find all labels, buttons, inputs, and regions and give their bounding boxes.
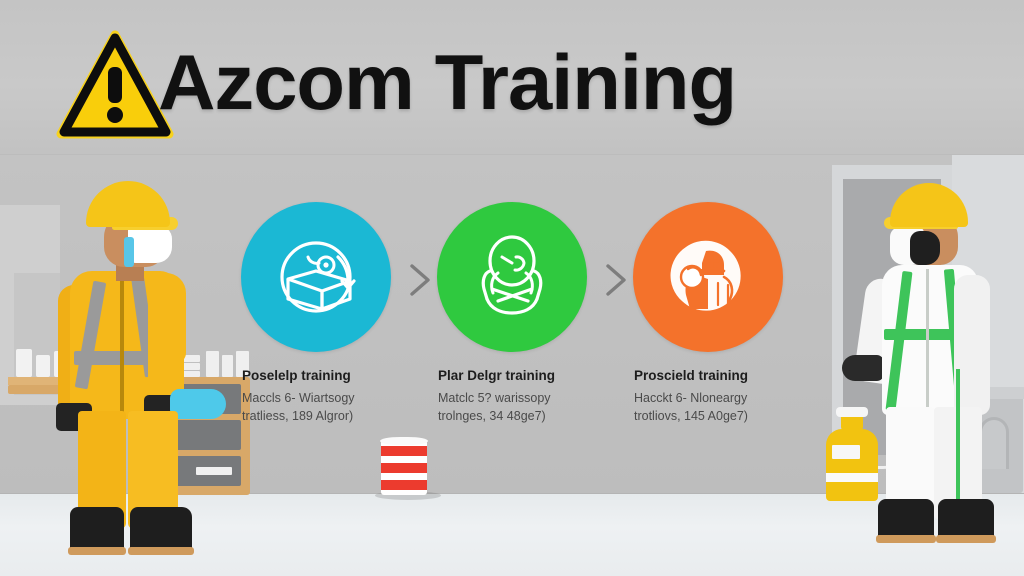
black-respirator xyxy=(910,231,940,265)
step-1-text: Poselelp training Maccls 6- Wiartsogy tr… xyxy=(236,368,396,425)
mask-band xyxy=(124,237,134,267)
left-black-glove xyxy=(842,355,884,381)
step-3-title: Proscield training xyxy=(634,368,788,383)
cyan-glove xyxy=(170,389,226,419)
worker-yellow-coverall xyxy=(52,173,242,533)
training-step-3[interactable]: Proscield training Hacckt 6- Nloneargy t… xyxy=(628,202,788,425)
right-boot-sole xyxy=(128,547,194,555)
leg-green-stripe xyxy=(956,369,960,519)
warning-triangle-icon xyxy=(56,30,174,142)
step-2-text: Plar Delgr training Matclc 5? warissopy … xyxy=(432,368,592,425)
left-boot-sole xyxy=(876,535,936,543)
step-1-title: Poselelp training xyxy=(242,368,396,383)
page-title: Azcom Training xyxy=(158,26,736,138)
header-band: Azcom Training xyxy=(0,0,1024,155)
gloved-hands-icon xyxy=(466,231,558,323)
scene-illustration: Poselelp training Maccls 6- Wiartsogy tr… xyxy=(0,155,1024,576)
step-1-badge[interactable] xyxy=(241,202,391,352)
step-2-badge[interactable] xyxy=(437,202,587,352)
chevron-right-icon xyxy=(598,260,632,300)
step-2-title: Plar Delgr training xyxy=(438,368,592,383)
step-3-badge[interactable] xyxy=(633,202,783,352)
face-mask xyxy=(128,225,172,263)
container-recycle-icon xyxy=(270,231,362,323)
chemical-drum xyxy=(381,439,427,495)
yellow-hard-hat xyxy=(890,183,968,227)
respirator-worker-icon xyxy=(662,231,754,323)
training-step-1[interactable]: Poselelp training Maccls 6- Wiartsogy tr… xyxy=(236,202,396,425)
training-steps: Poselelp training Maccls 6- Wiartsogy tr… xyxy=(236,202,806,442)
yellow-hard-hat xyxy=(86,181,170,227)
step-3-text: Proscield training Hacckt 6- Nloneargy t… xyxy=(628,368,788,425)
infographic-canvas: Azcom Training xyxy=(0,0,1024,576)
training-step-2[interactable]: Plar Delgr training Matclc 5? warissopy … xyxy=(432,202,592,425)
step-1-subtitle: Maccls 6- Wiartsogy tratliess, 189 Algro… xyxy=(242,389,392,425)
suit-zipper xyxy=(926,269,929,415)
step-3-subtitle: Hacckt 6- Nloneargy trotliovs, 145 A0ge7… xyxy=(634,389,784,425)
right-boot-sole xyxy=(936,535,996,543)
chevron-right-icon xyxy=(402,260,436,300)
worker-white-hazmat-suit xyxy=(846,179,1016,535)
step-2-subtitle: Matclc 5? warissopy trolnges, 34 48ge7) xyxy=(438,389,588,425)
left-boot-sole xyxy=(68,547,126,555)
coverall-zipper xyxy=(120,273,124,419)
